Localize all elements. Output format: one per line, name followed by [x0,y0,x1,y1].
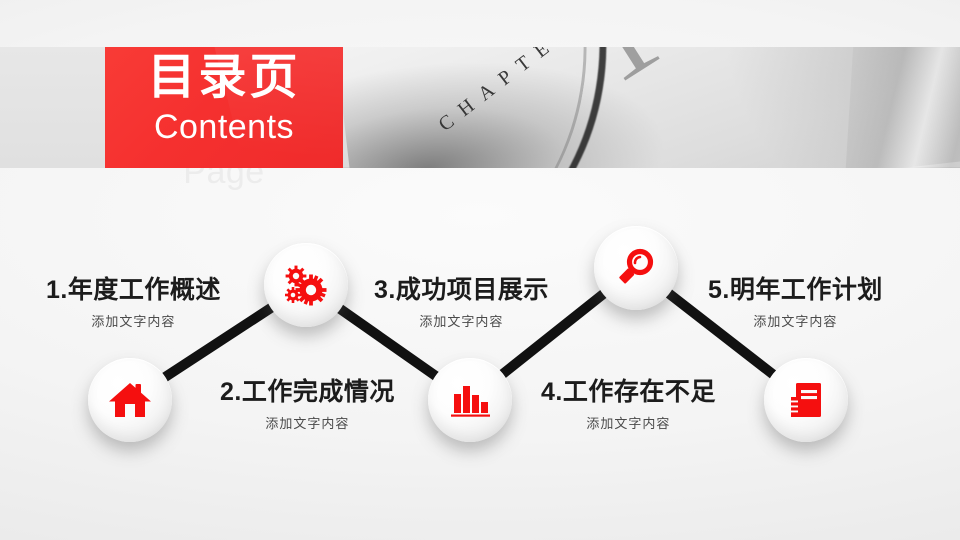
gears-icon [283,264,329,306]
item-label-3: 3.成功项目展示 添加文字内容 [374,270,549,330]
page-title-cn: 目录页 [105,53,343,103]
node-notebook[interactable] [764,358,848,442]
item-label-2: 2.工作完成情况 添加文字内容 [220,372,395,432]
magnifier-icon [614,246,658,290]
item-title-3: 3.成功项目展示 [374,270,549,306]
item-title-1: 1.年度工作概述 [46,270,221,306]
item-subtitle-5: 添加文字内容 [708,311,883,330]
bar-chart-icon [447,379,493,421]
item-label-4: 4.工作存在不足 添加文字内容 [541,372,716,432]
item-label-5: 5.明年工作计划 添加文字内容 [708,270,883,330]
item-title-5: 5.明年工作计划 [708,270,883,306]
item-label-1: 1.年度工作概述 添加文字内容 [46,270,221,330]
node-magnifier[interactable] [594,226,678,310]
slide-canvas: CHAPTER 10 目录页 Contents Page [0,0,960,540]
item-subtitle-2: 添加文字内容 [220,413,395,432]
home-icon [107,379,153,421]
item-title-2: 2.工作完成情况 [220,372,395,408]
page-title-en: Contents [105,107,343,147]
contents-title-block: 目录页 Contents [105,47,343,168]
item-title-4: 4.工作存在不足 [541,372,716,408]
node-home[interactable] [88,358,172,442]
item-subtitle-4: 添加文字内容 [541,413,716,432]
node-gears[interactable] [264,243,348,327]
node-bar-chart[interactable] [428,358,512,442]
item-subtitle-3: 添加文字内容 [374,311,549,330]
notebook-icon [786,379,826,421]
item-subtitle-1: 添加文字内容 [46,311,221,330]
